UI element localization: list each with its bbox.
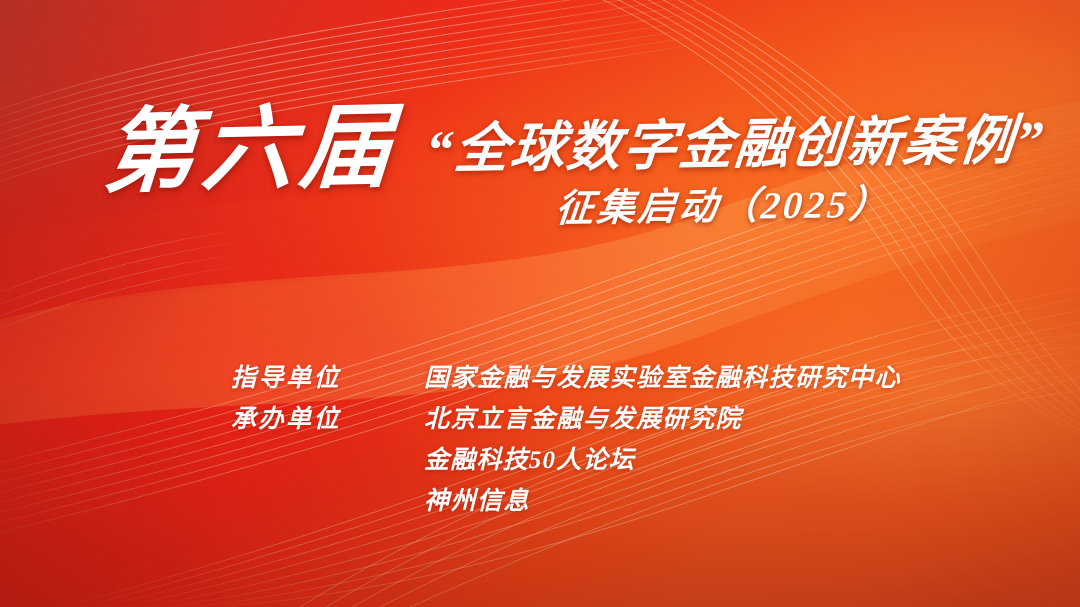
credit-row: 神州信息: [231, 481, 991, 522]
credit-value: 国家金融与发展实验室金融科技研究中心: [424, 358, 901, 394]
credit-label: 指导单位: [231, 358, 424, 394]
credit-value: 北京立言金融与发展研究院: [424, 399, 742, 435]
page-title-theme: “全球数字金融创新案例”: [423, 113, 1047, 177]
credits-block: 指导单位 国家金融与发展实验室金融科技研究中心 承办单位 北京立言金融与发展研究…: [231, 358, 991, 522]
credit-row: 金融科技50人论坛: [231, 440, 991, 481]
page-title-edition: 第六届: [101, 101, 402, 199]
credit-row: 承办单位 北京立言金融与发展研究院: [231, 399, 991, 440]
page-subtitle-launch-year: 征集启动（2025）: [554, 186, 892, 229]
credit-row: 指导单位 国家金融与发展实验室金融科技研究中心: [231, 358, 991, 399]
credit-value: 神州信息: [424, 481, 530, 517]
credit-label: 承办单位: [231, 399, 424, 435]
credit-value: 金融科技50人论坛: [424, 440, 635, 476]
poster-canvas: 第六届 “全球数字金融创新案例” 征集启动（2025） 指导单位 国家金融与发展…: [0, 0, 1080, 607]
